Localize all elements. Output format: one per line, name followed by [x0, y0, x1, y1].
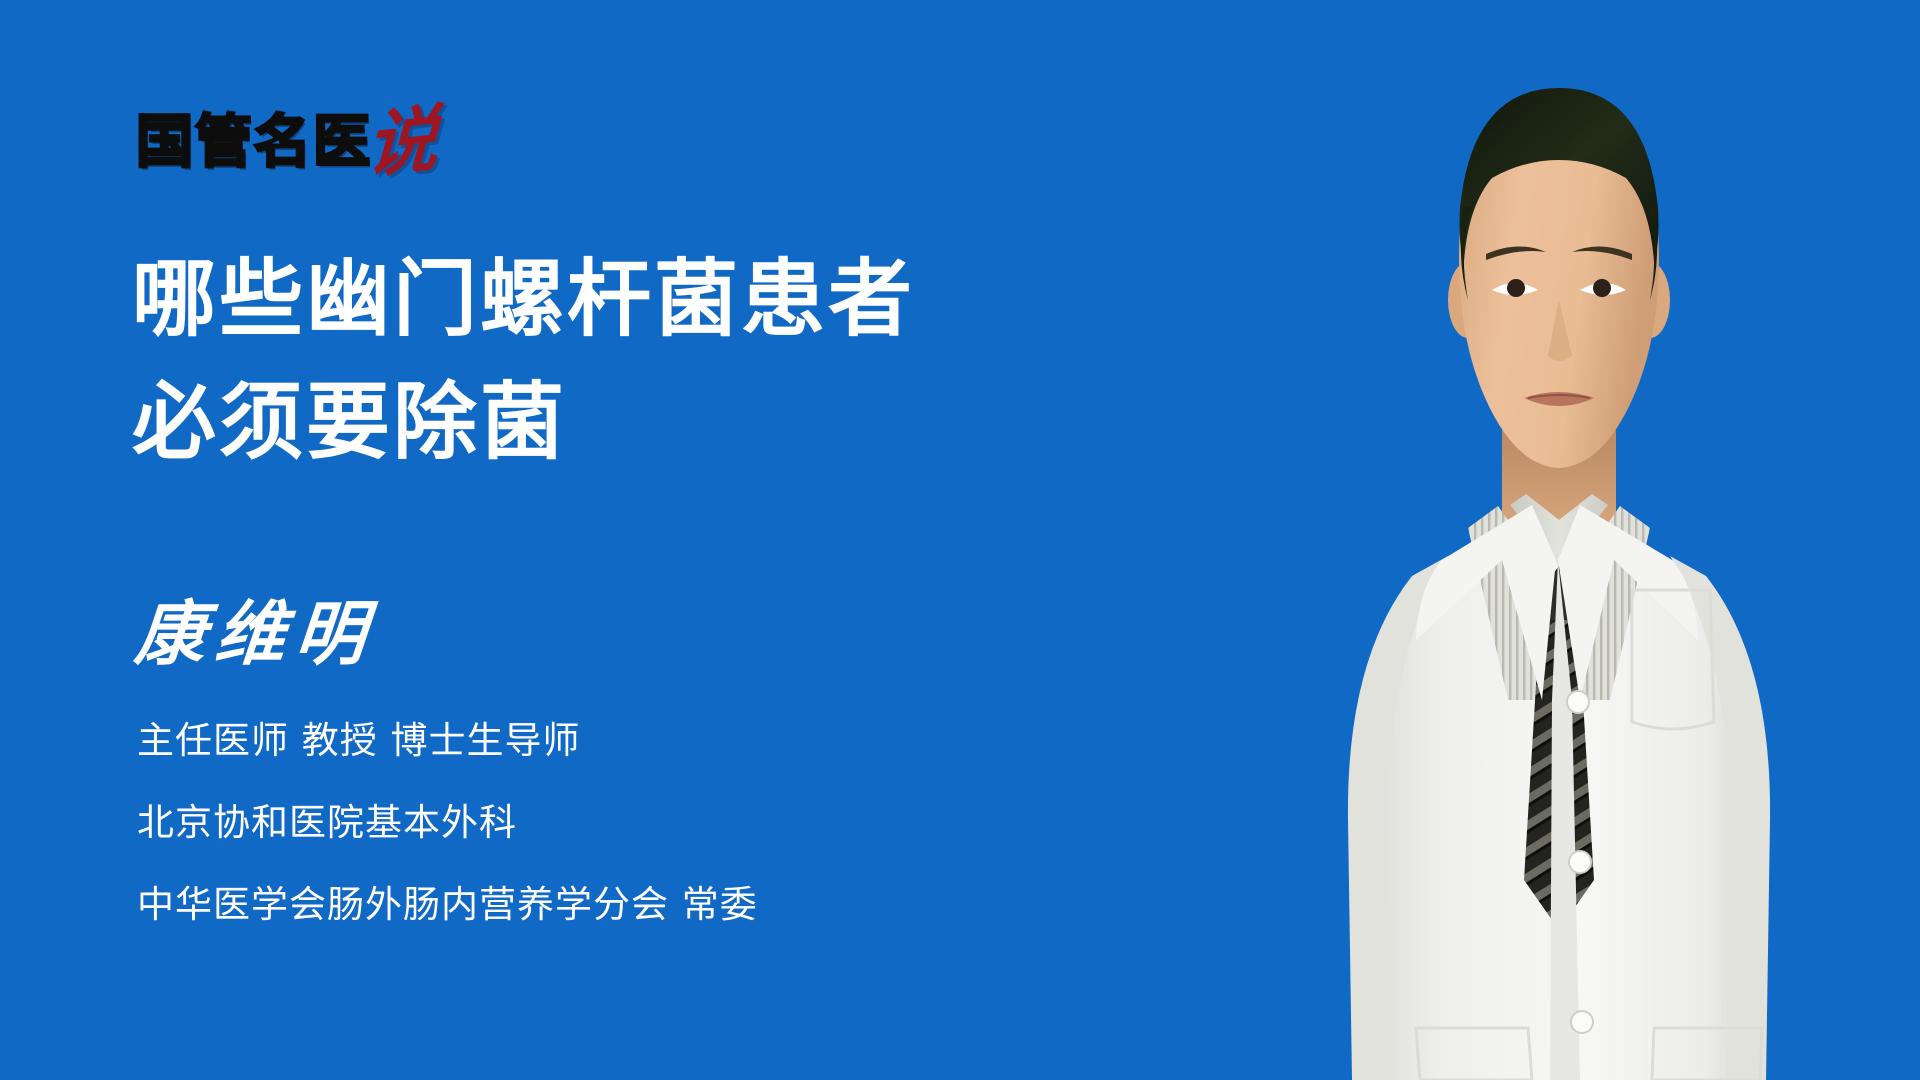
speaker-portrait [1180, 0, 1920, 1080]
text-column: 国管名医 说 哪些幽门螺杆菌患者 必须要除菌 康维明 主任医师 教授 博士生导师… [0, 0, 1180, 1080]
credential-line-3: 中华医学会肠外肠内营养学分会 常委 [137, 886, 758, 923]
credential-line-2: 北京协和医院基本外科 [137, 804, 758, 841]
right-pupil [1593, 279, 1611, 297]
speaker-credentials: 主任医师 教授 博士生导师 北京协和医院基本外科 中华医学会肠外肠内营养学分会 … [137, 722, 758, 923]
speaker-name: 康维明 [132, 578, 381, 679]
left-pupil [1507, 279, 1525, 297]
title-line-2: 必须要除菌 [132, 361, 915, 484]
coat-button-1 [1567, 691, 1589, 713]
episode-title: 哪些幽门螺杆菌患者 必须要除菌 [132, 238, 915, 483]
program-logo: 国管名医 说 [136, 100, 438, 172]
program-logo-main-text: 国管名医 [136, 114, 372, 171]
speaker-portrait-illustration [1180, 0, 1920, 1080]
title-line-1: 哪些幽门螺杆菌患者 [132, 238, 915, 361]
credential-line-1: 主任医师 教授 博士生导师 [137, 722, 758, 759]
coat-button-2 [1569, 851, 1591, 873]
program-logo-accent-text: 说 [365, 102, 439, 182]
slide-canvas: 国管名医 说 哪些幽门螺杆菌患者 必须要除菌 康维明 主任医师 教授 博士生导师… [0, 0, 1920, 1080]
coat-button-3 [1571, 1011, 1593, 1033]
